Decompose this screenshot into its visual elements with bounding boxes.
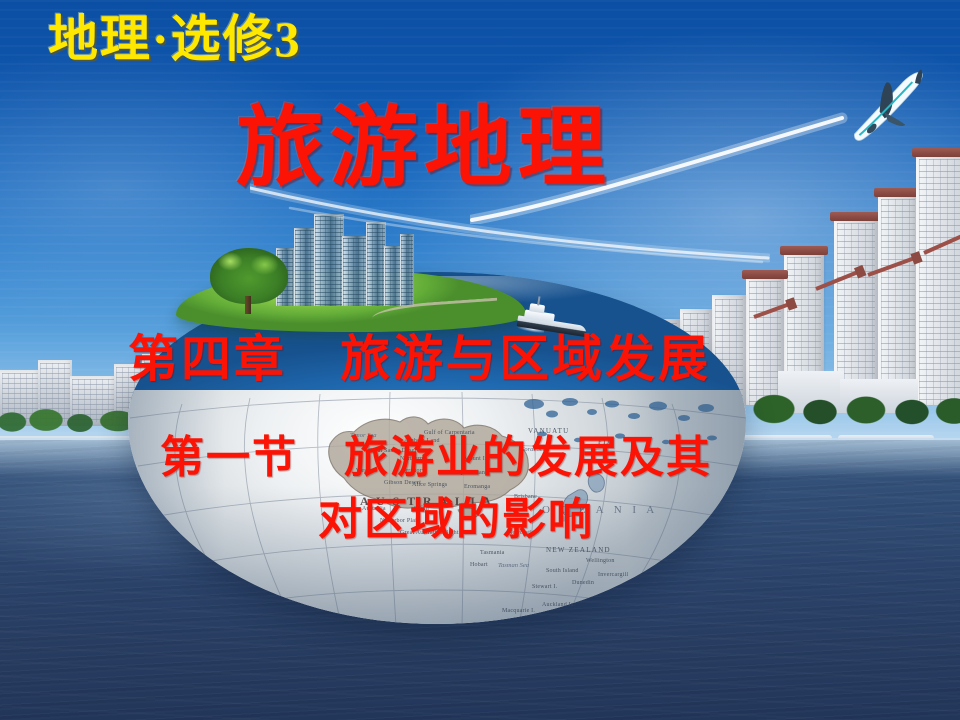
grass-island [176, 246, 526, 336]
chapter-heading: 第四章 旅游与区域发展 [128, 334, 711, 384]
subject-title: 地理·选修3 [48, 14, 302, 64]
section-heading-line1: 第一节 旅游业的发展及其 [160, 436, 712, 480]
presentation-slide: A U S T R A L I A O C E A N I A NEW ZEAL… [0, 0, 960, 720]
tree-trunk [245, 296, 251, 314]
page-title: 旅游地理 [236, 106, 612, 194]
section-heading-line2: 对区域的影响 [318, 498, 594, 542]
